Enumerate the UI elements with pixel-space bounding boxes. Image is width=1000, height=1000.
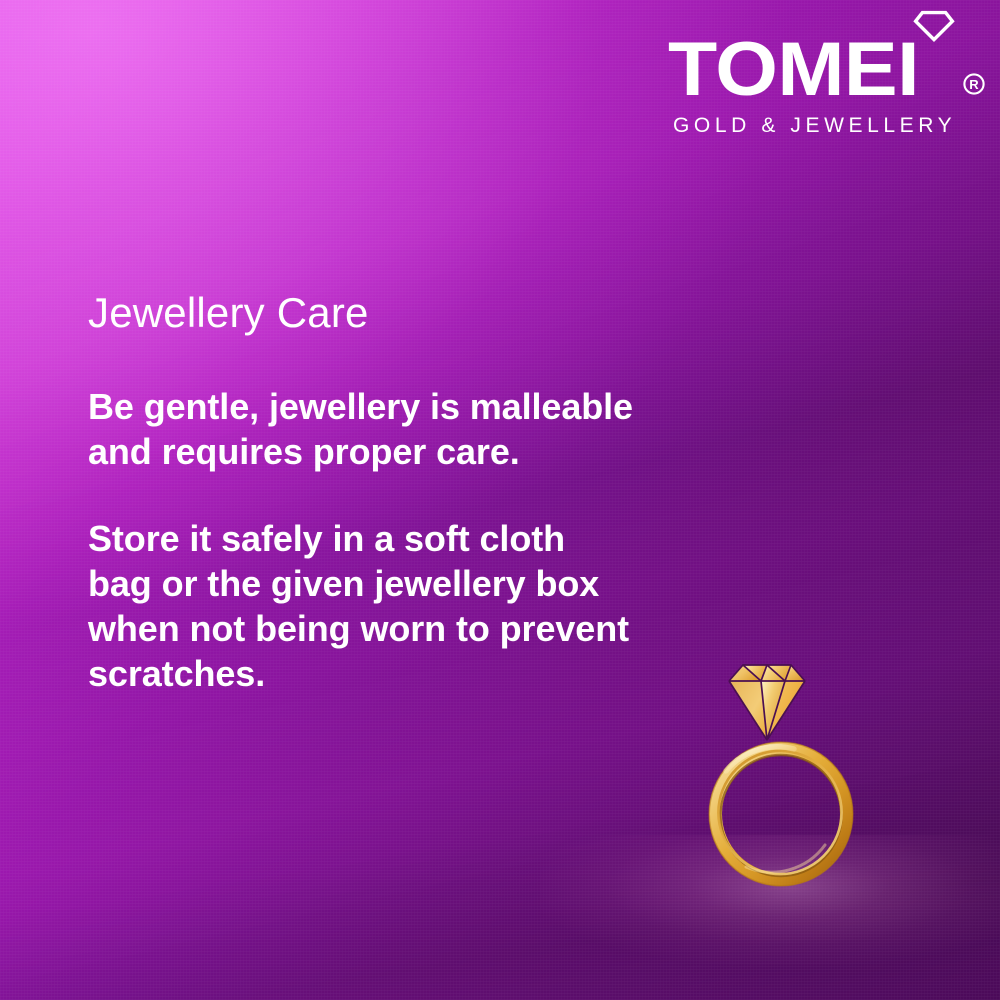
tomei-logo: TOMEI R GOLD & JEWELLERY (660, 8, 990, 138)
care-copy-block: Jewellery Care Be gentle, jewellery is m… (88, 288, 648, 696)
logo-tagline: GOLD & JEWELLERY (673, 114, 956, 138)
logo-wordmark: TOMEI (668, 32, 919, 108)
care-paragraph-2: Store it safely in a soft cloth bag or t… (88, 516, 633, 696)
diamond-outline-icon (913, 10, 955, 42)
svg-text:R: R (969, 77, 979, 92)
jewellery-care-poster: TOMEI R GOLD & JEWELLERY Jewellery Care … (0, 0, 1000, 1000)
registered-trademark-icon: R (962, 72, 986, 96)
ring-band (709, 742, 853, 886)
care-paragraph-1: Be gentle, jewellery is malleable and re… (88, 384, 633, 474)
gem-icon (729, 665, 805, 740)
gold-diamond-ring-illustration (690, 640, 880, 910)
page-title: Jewellery Care (88, 288, 648, 338)
